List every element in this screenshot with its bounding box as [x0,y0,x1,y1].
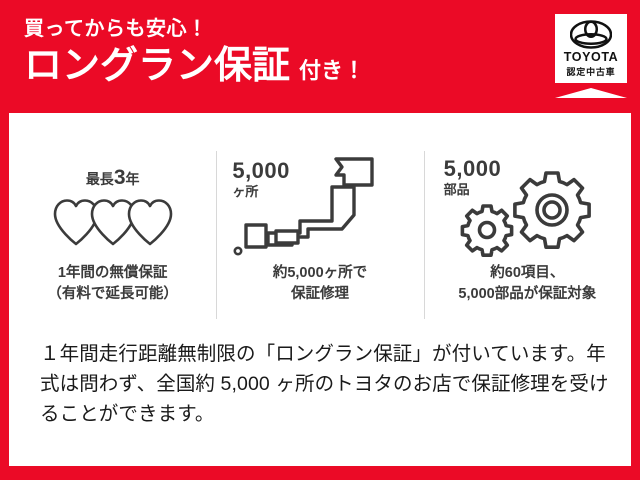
feature-caption-service-locations: 約5,000ヶ所で 保証修理 [273,263,367,305]
warranty-period-badge: 最長3年 [9,167,216,188]
toyota-certified-label: 認定中古車 [566,68,615,77]
feature-caption-warranty-period: 1年間の無償保証 （有料で延長可能） [47,263,178,305]
header-headline-main: ロングラン保証 [24,47,290,87]
header-kicker: 買ってからも安心！ [24,18,484,40]
service-locations-badge: 5,000 ヶ所 [232,159,290,198]
feature-covered-parts: 5,000 部品 約60項目、 5,000部品が保証対象 [424,145,631,330]
warranty-period-badge-suffix: 年 [126,171,140,187]
three-hearts-icon [52,195,174,247]
header-headline-suffix: 付き！ [299,60,365,82]
feature-visual-service-locations: 5,000 ヶ所 [216,145,423,263]
feature-columns: 最長3年 1年間の無償保証 （有料で延長可能） [9,145,631,330]
covered-parts-badge: 5,000 部品 [444,157,502,196]
covered-parts-badge-unit: 部品 [444,183,502,197]
warranty-period-badge-prefix: 最長 [86,171,114,187]
toyota-certified-used-car-logo: TOYOTA 認定中古車 [555,14,627,98]
map-dot-icon [235,248,241,254]
feature-visual-covered-parts: 5,000 部品 [424,145,631,263]
toyota-emblem-icon [570,20,612,49]
toyota-wordmark: TOYOTA [564,51,619,64]
content-card: 最長3年 1年間の無償保証 （有料で延長可能） [9,113,631,466]
feature-visual-warranty-period: 最長3年 [9,145,216,263]
service-locations-badge-unit: ヶ所 [232,185,290,199]
header-text-block: 買ってからも安心！ ロングラン保証 付き！ [24,18,484,87]
service-locations-badge-number: 5,000 [232,158,290,183]
body-paragraph: １年間走行距離無制限の「ロングラン保証」が付いています。年式は問わず、全国約 5… [40,339,610,430]
banner-header: 買ってからも安心！ ロングラン保証 付き！ TOYOTA 認定中古車 [0,0,640,113]
warranty-banner: 買ってからも安心！ ロングラン保証 付き！ TOYOTA 認定中古車 [0,0,640,480]
header-headline-row: ロングラン保証 付き！ [24,47,484,87]
covered-parts-badge-number: 5,000 [444,156,502,181]
warranty-period-badge-number: 3 [114,166,126,189]
feature-caption-covered-parts: 約60項目、 5,000部品が保証対象 [458,263,596,305]
toyota-chevron-icon [555,83,627,98]
feature-service-locations: 5,000 ヶ所 約5,000ヶ所で 保証修理 [216,145,423,330]
feature-warranty-period: 最長3年 1年間の無償保証 （有料で延長可能） [9,145,216,330]
